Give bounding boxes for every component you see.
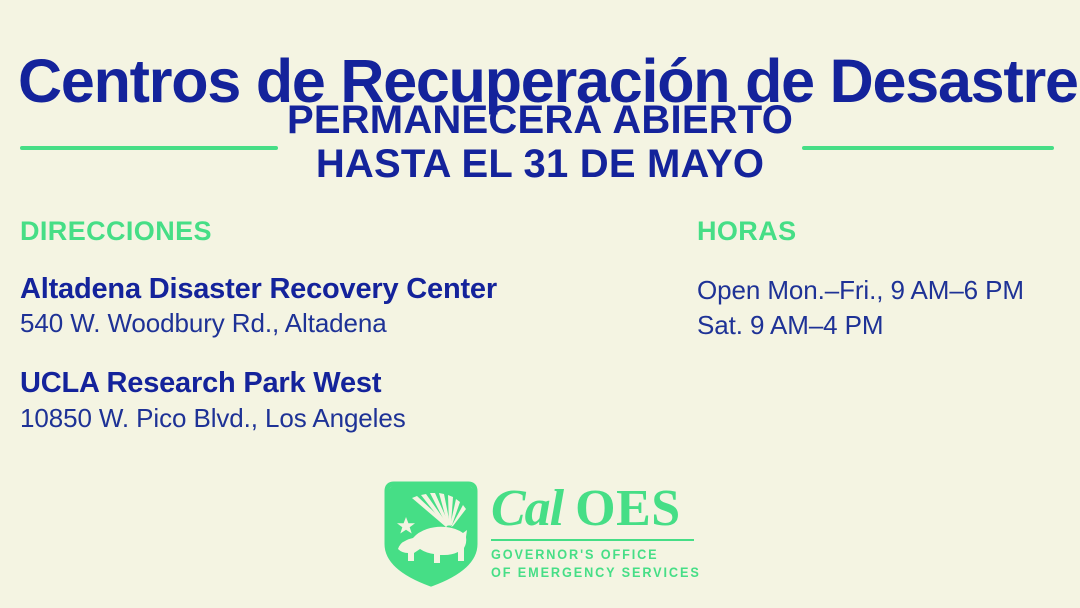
addresses-heading: DIRECCIONES <box>20 218 660 245</box>
location-name: Altadena Disaster Recovery Center <box>20 273 660 305</box>
location-item: UCLA Research Park West 10850 W. Pico Bl… <box>20 367 660 433</box>
subtitle-band: PERMANECERÁ ABIERTO HASTA EL 31 DE MAYO <box>0 100 1080 190</box>
addresses-column: DIRECCIONES Altadena Disaster Recovery C… <box>20 218 660 434</box>
logo-divider <box>491 539 694 541</box>
hours-line: Sat. 9 AM–4 PM <box>697 308 1067 343</box>
logo-script-word: Cal <box>491 480 575 537</box>
hours-column: HORAS Open Mon.–Fri., 9 AM–6 PM Sat. 9 A… <box>697 218 1067 343</box>
subtitle: PERMANECERÁ ABIERTO HASTA EL 31 DE MAYO <box>0 100 1080 184</box>
hours-heading: HORAS <box>697 218 1067 245</box>
logo-tagline-line-1: GOVERNOR'S OFFICE <box>491 546 684 564</box>
location-item: Altadena Disaster Recovery Center 540 W.… <box>20 273 660 339</box>
location-name: UCLA Research Park West <box>20 367 660 399</box>
subtitle-line-1: PERMANECERÁ ABIERTO <box>0 100 1080 140</box>
logo-acronym: OES <box>575 480 681 537</box>
hours-line: Open Mon.–Fri., 9 AM–6 PM <box>697 273 1067 308</box>
cal-oes-logo: Cal OES GOVERNOR'S OFFICE OF EMERGENCY S… <box>384 481 696 589</box>
california-bear-shield-icon <box>384 481 478 587</box>
poster-canvas: Centros de Recuperación de Desastre PERM… <box>0 0 1080 608</box>
location-address: 540 W. Woodbury Rd., Altadena <box>20 309 660 339</box>
cal-oes-name: Cal OES <box>491 483 696 535</box>
subtitle-line-2: HASTA EL 31 DE MAYO <box>0 144 1080 184</box>
cal-oes-wordmark: Cal OES GOVERNOR'S OFFICE OF EMERGENCY S… <box>491 483 696 582</box>
logo-tagline-line-2: OF EMERGENCY SERVICES <box>491 564 684 582</box>
location-address: 10850 W. Pico Blvd., Los Angeles <box>20 404 660 434</box>
